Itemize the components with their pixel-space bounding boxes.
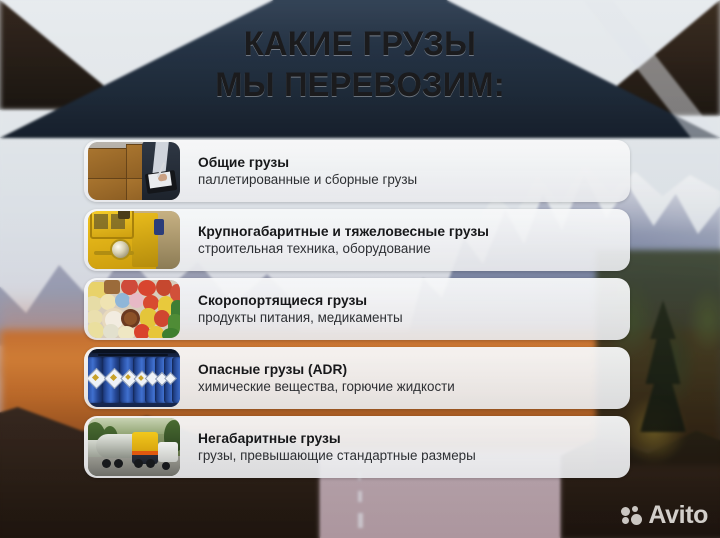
chemical-barrels-icon: [88, 349, 180, 407]
page-title: КАКИЕ ГРУЗЫ МЫ ПЕРЕВОЗИМ:: [14, 24, 705, 106]
list-item-title: Негабаритные грузы: [198, 430, 476, 447]
avito-watermark: Avito: [621, 503, 708, 528]
promo-poster: КАКИЕ ГРУЗЫ МЫ ПЕРЕВОЗИМ: Общие грузы па…: [0, 0, 720, 538]
list-item[interactable]: Общие грузы паллетированные и сборные гр…: [84, 140, 630, 202]
list-item-text: Негабаритные грузы грузы, превышающие ст…: [180, 430, 486, 465]
list-item-text: Опасные грузы (ADR) химические вещества,…: [180, 361, 465, 396]
list-item-title: Крупногабаритные и тяжеловесные грузы: [198, 223, 489, 240]
page-title-line-2: МЫ ПЕРЕВОЗИМ:: [14, 65, 705, 106]
list-item-subtitle: грузы, превышающие стандартные размеры: [198, 447, 476, 465]
oversized-tanker-icon: [88, 418, 180, 476]
construction-machinery-icon: [88, 211, 180, 269]
list-item-title: Скоропортящиеся грузы: [198, 292, 403, 309]
list-item-text: Скоропортящиеся грузы продукты питания, …: [180, 292, 413, 327]
cardboard-boxes-icon: [88, 142, 180, 200]
list-item[interactable]: Опасные грузы (ADR) химические вещества,…: [84, 347, 630, 409]
list-item-text: Общие грузы паллетированные и сборные гр…: [180, 154, 427, 189]
list-item-subtitle: паллетированные и сборные грузы: [198, 171, 417, 189]
page-title-line-1: КАКИЕ ГРУЗЫ: [244, 25, 476, 63]
avito-dots-icon: [621, 506, 642, 525]
fresh-food-icon: [88, 280, 180, 338]
cargo-type-list: Общие грузы паллетированные и сборные гр…: [84, 140, 630, 478]
list-item[interactable]: Крупногабаритные и тяжеловесные грузы ст…: [84, 209, 630, 271]
list-item[interactable]: Негабаритные грузы грузы, превышающие ст…: [84, 416, 630, 478]
list-item-title: Общие грузы: [198, 154, 417, 171]
list-item-subtitle: химические вещества, горючие жидкости: [198, 378, 455, 396]
avito-wordmark: Avito: [648, 503, 708, 528]
list-item-subtitle: продукты питания, медикаменты: [198, 309, 403, 327]
list-item[interactable]: Скоропортящиеся грузы продукты питания, …: [84, 278, 630, 340]
list-item-subtitle: строительная техника, оборудование: [198, 240, 489, 258]
list-item-text: Крупногабаритные и тяжеловесные грузы ст…: [180, 223, 499, 258]
list-item-title: Опасные грузы (ADR): [198, 361, 455, 378]
